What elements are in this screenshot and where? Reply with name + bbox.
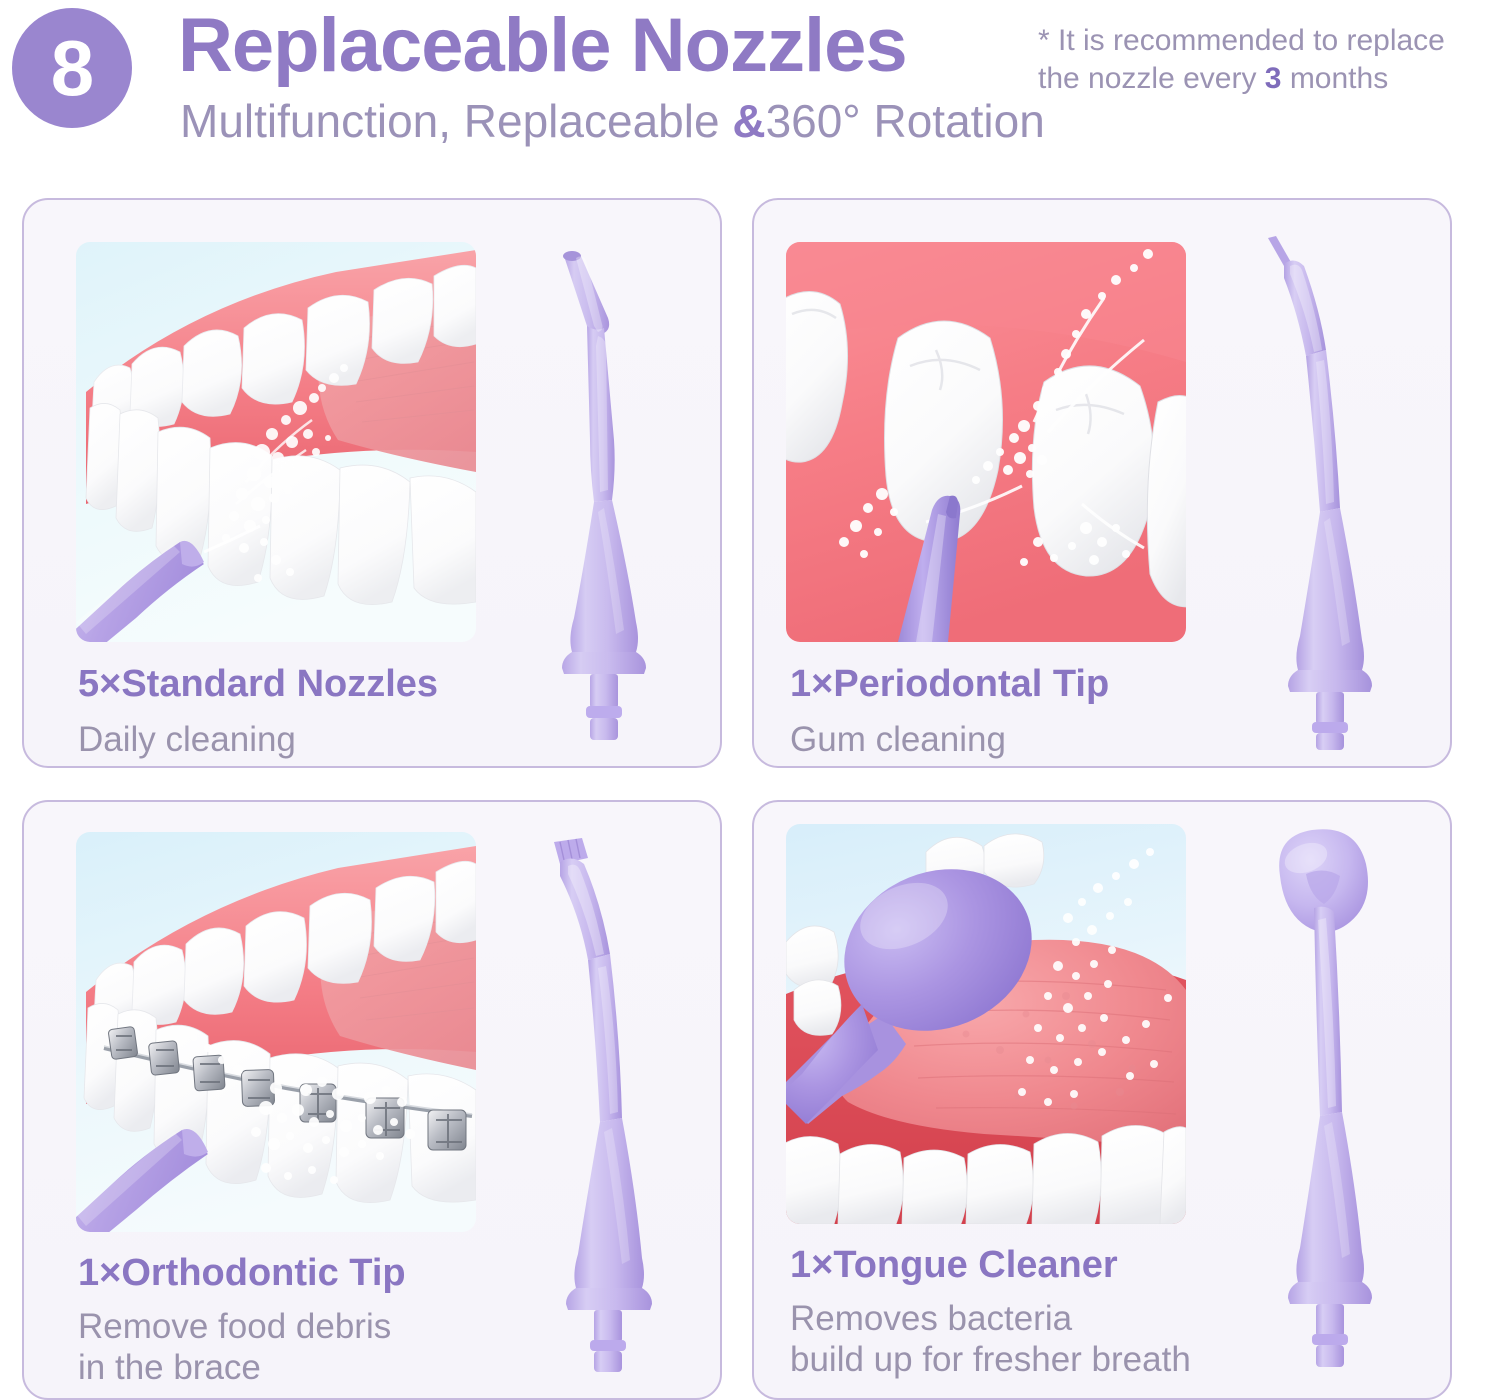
note-highlight-months: 3: [1265, 62, 1282, 95]
replacement-note: * It is recommended to replacethe nozzle…: [1038, 22, 1488, 99]
subtitle-ampersand: &: [732, 95, 765, 147]
card-subtitle-tongue: Removes bacteria build up for fresher br…: [790, 1299, 1191, 1380]
note-line-1: * It is recommended to replace: [1038, 24, 1445, 57]
card-tongue-cleaner[interactable]: 1×Tongue Cleaner Removes bacteria build …: [752, 800, 1452, 1400]
periodontal-tip-photo: [786, 242, 1186, 642]
step-number: 8: [51, 29, 93, 107]
page-subtitle: Multifunction, Replaceable &360° Rotatio…: [180, 96, 1045, 147]
standard-nozzle-product: [524, 240, 714, 740]
note-line-2-post: months: [1281, 62, 1388, 95]
card-title-periodontal: 1×Periodontal Tip: [790, 665, 1109, 703]
infographic-page: 8 Replaceable Nozzles Multifunction, Rep…: [0, 0, 1500, 1400]
card-subtitle-orthodontic: Remove food debris in the brace: [78, 1307, 391, 1388]
card-orthodontic-tip[interactable]: 1×Orthodontic Tip Remove food debris in …: [22, 800, 722, 1400]
periodontal-tip-product: [1244, 230, 1434, 750]
card-standard-nozzles[interactable]: 5×Standard Nozzles Daily cleaning: [22, 198, 722, 768]
page-title: Replaceable Nozzles: [178, 8, 907, 84]
step-number-badge: 8: [12, 8, 132, 128]
card-periodontal-tip[interactable]: 1×Periodontal Tip Gum cleaning: [752, 198, 1452, 768]
orthodontic-tip-photo: [76, 832, 476, 1232]
tongue-cleaner-product: [1244, 822, 1434, 1367]
header: 8 Replaceable Nozzles Multifunction, Rep…: [0, 0, 1500, 165]
subtitle-part-1: Multifunction, Replaceable: [180, 95, 732, 147]
orthodontic-tip-product: [522, 832, 712, 1372]
note-line-2-pre: the nozzle every: [1038, 62, 1265, 95]
card-subtitle-periodontal: Gum cleaning: [790, 720, 1006, 761]
card-title-orthodontic: 1×Orthodontic Tip: [78, 1254, 406, 1292]
tongue-cleaner-photo: [786, 824, 1186, 1224]
nozzle-card-grid: 5×Standard Nozzles Daily cleaning: [0, 170, 1500, 1400]
card-title-standard: 5×Standard Nozzles: [78, 665, 438, 703]
card-title-tongue: 1×Tongue Cleaner: [790, 1246, 1118, 1284]
card-subtitle-standard: Daily cleaning: [78, 720, 296, 761]
subtitle-part-2: 360° Rotation: [766, 95, 1045, 147]
standard-nozzle-photo: [76, 242, 476, 642]
